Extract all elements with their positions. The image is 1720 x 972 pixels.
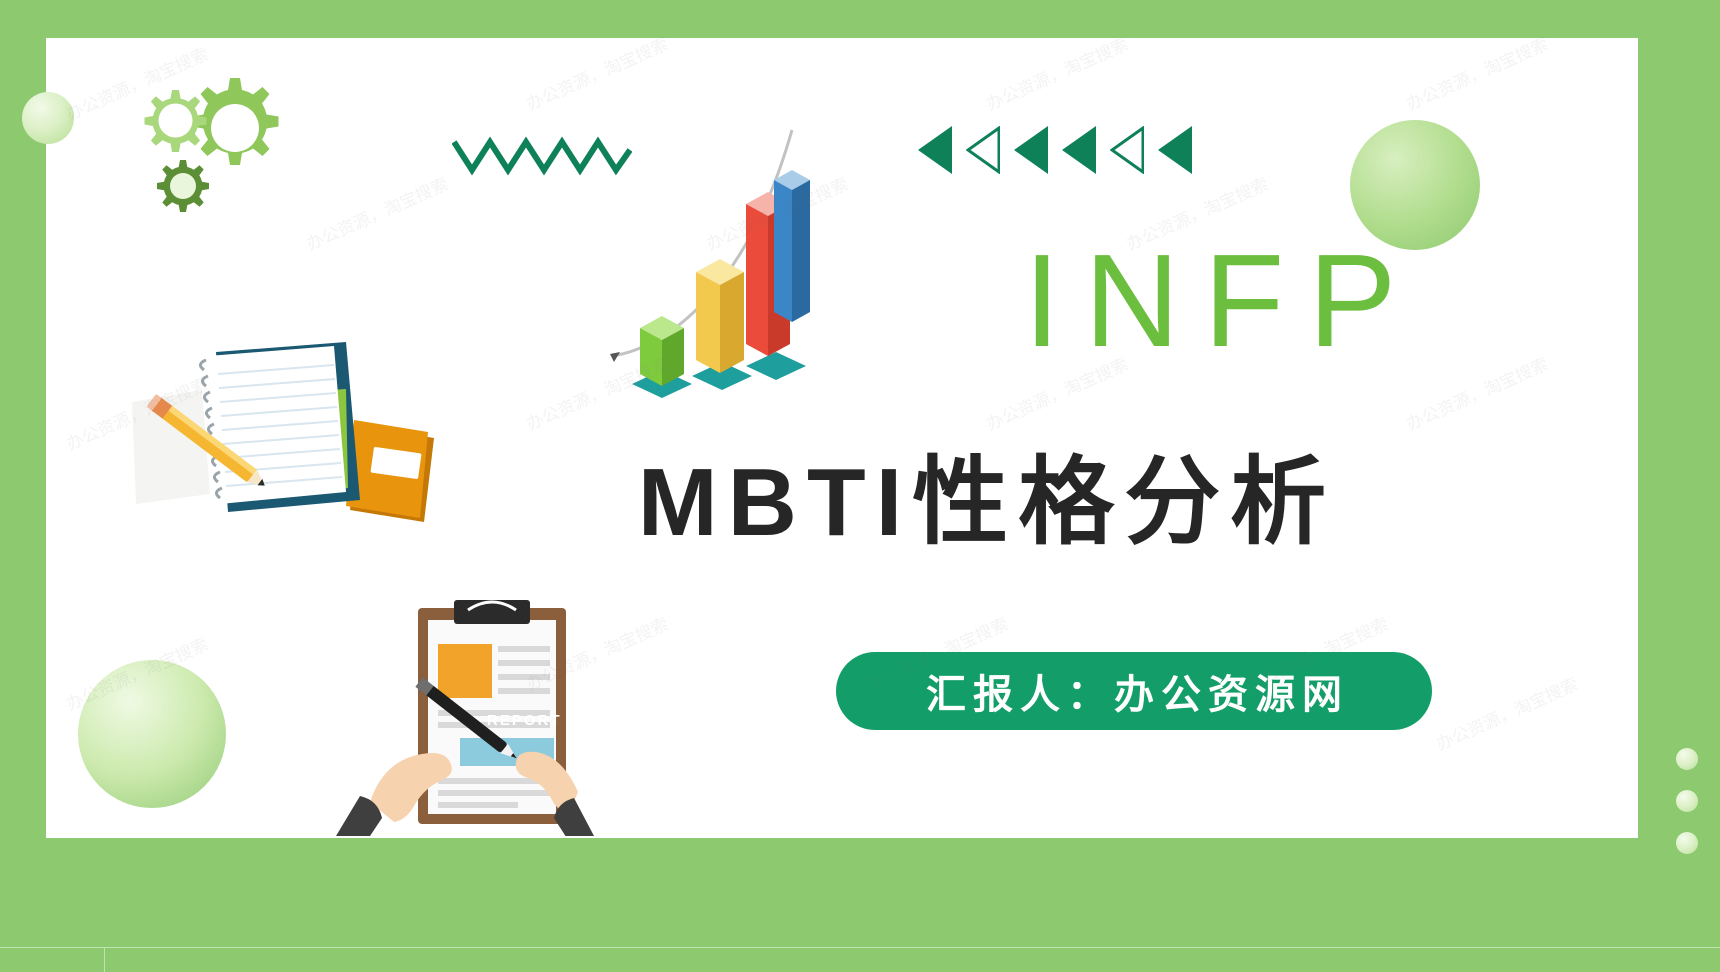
presenter-pill[interactable]: 汇报人：办公资源网 [836,652,1432,730]
bottom-tick [104,948,105,972]
page-title: MBTI性格分析 [492,450,1472,556]
decor-edge-dot-3 [1676,832,1698,854]
orange-book [346,420,434,522]
triangle-left-icon-6 [1158,126,1192,174]
bar-chart-illustration [596,122,826,407]
gear-small [157,160,209,212]
decor-edge-dot-2 [1676,790,1698,812]
triangle-left-icon-2 [966,126,1000,174]
personality-type-code: INFP [960,232,1460,371]
triangle-left-icon-5 [1110,126,1144,174]
spiral-notebook [200,342,360,512]
decor-circle-topleft [22,92,74,144]
slide-canvas: REPORT INFP MBTI性格分析 汇报人：办公资源网 办公资源，淘宝搜索… [0,0,1720,972]
bottom-rule [0,947,1720,948]
presenter-label: 汇报人：办公资源网 [919,662,1349,720]
gear-medium [145,90,207,152]
clipboard-illustration [326,586,646,841]
notebook-illustration [128,298,438,533]
report-banner-label: REPORT [487,712,562,729]
triangle-left-icon-4 [1062,126,1096,174]
arrow-row-decoration [918,126,1192,174]
triangle-left-icon-3 [1014,126,1048,174]
decor-edge-dot-1 [1676,748,1698,770]
gears-illustration [134,72,304,229]
decor-circle-bottomleft [78,660,226,808]
triangle-left-icon-1 [918,126,952,174]
